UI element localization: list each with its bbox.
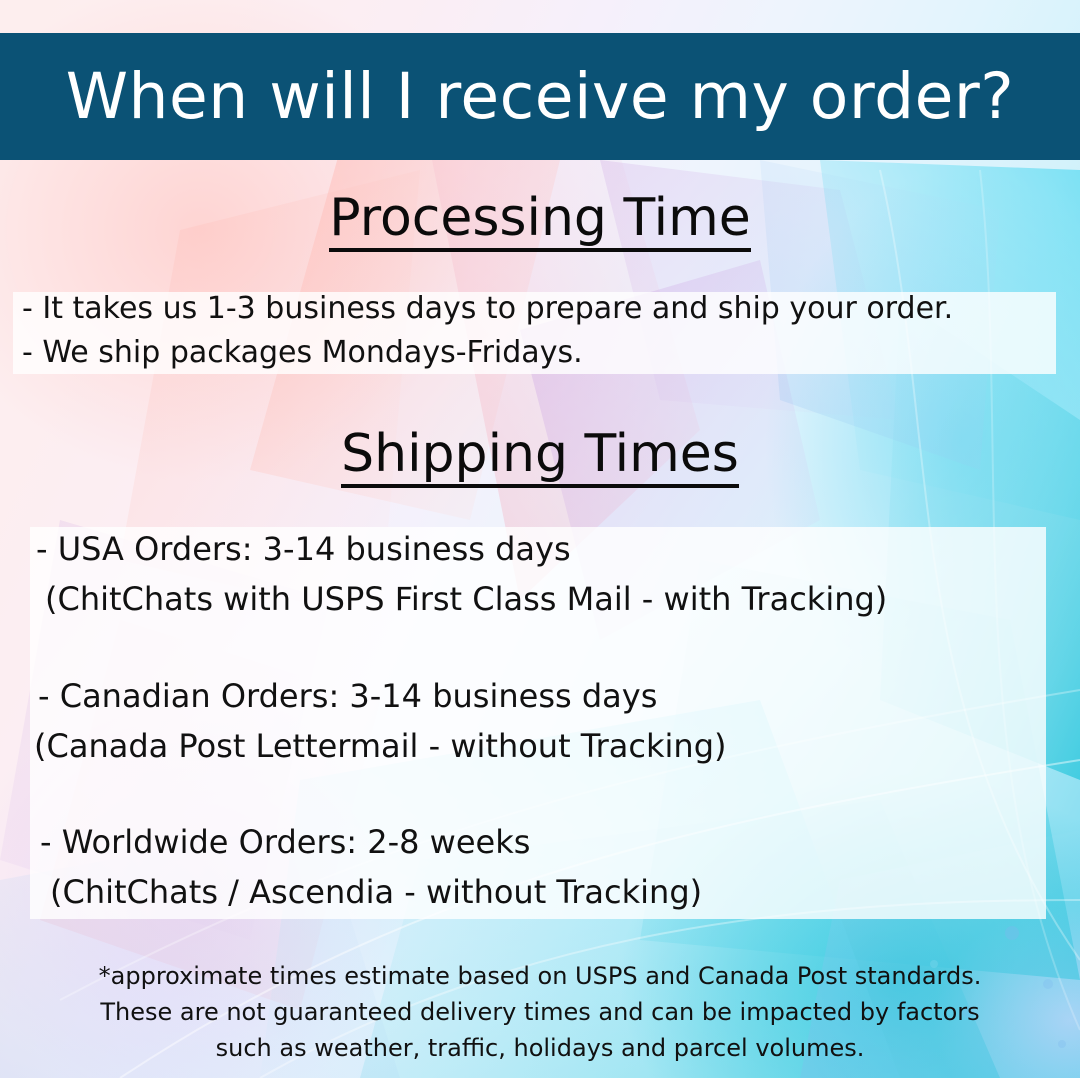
footer-disclaimer-line-1: *approximate times estimate based on USP… xyxy=(0,958,1080,994)
footer-disclaimer: *approximate times estimate based on USP… xyxy=(0,958,1080,1066)
processing-time-line-1: - It takes us 1-3 business days to prepa… xyxy=(22,294,953,324)
footer-disclaimer-line-3: such as weather, traffic, holidays and p… xyxy=(0,1030,1080,1066)
footer-disclaimer-line-2: These are not guaranteed delivery times … xyxy=(0,994,1080,1030)
shipping-policy-poster: When will I receive my order? Processing… xyxy=(0,0,1080,1078)
shipping-worldwide-line-1: - Worldwide Orders: 2-8 weeks xyxy=(40,826,530,858)
shipping-worldwide-line-2: (ChitChats / Ascendia - without Tracking… xyxy=(50,876,702,908)
shipping-usa-line-1: - USA Orders: 3-14 business days xyxy=(36,533,571,565)
section-heading-shipping-times-label: Shipping Times xyxy=(341,427,739,488)
processing-time-line-2: - We ship packages Mondays-Fridays. xyxy=(22,338,583,368)
shipping-canada-line-1: - Canadian Orders: 3-14 business days xyxy=(38,680,657,712)
shipping-usa-line-2: (ChitChats with USPS First Class Mail - … xyxy=(45,583,887,615)
section-heading-processing-time: Processing Time xyxy=(0,188,1080,252)
section-heading-processing-time-label: Processing Time xyxy=(329,191,750,252)
shipping-canada-line-2: (Canada Post Lettermail - without Tracki… xyxy=(34,730,727,762)
page-title: When will I receive my order? xyxy=(66,65,1014,128)
header-band: When will I receive my order? xyxy=(0,33,1080,160)
section-heading-shipping-times: Shipping Times xyxy=(0,424,1080,488)
